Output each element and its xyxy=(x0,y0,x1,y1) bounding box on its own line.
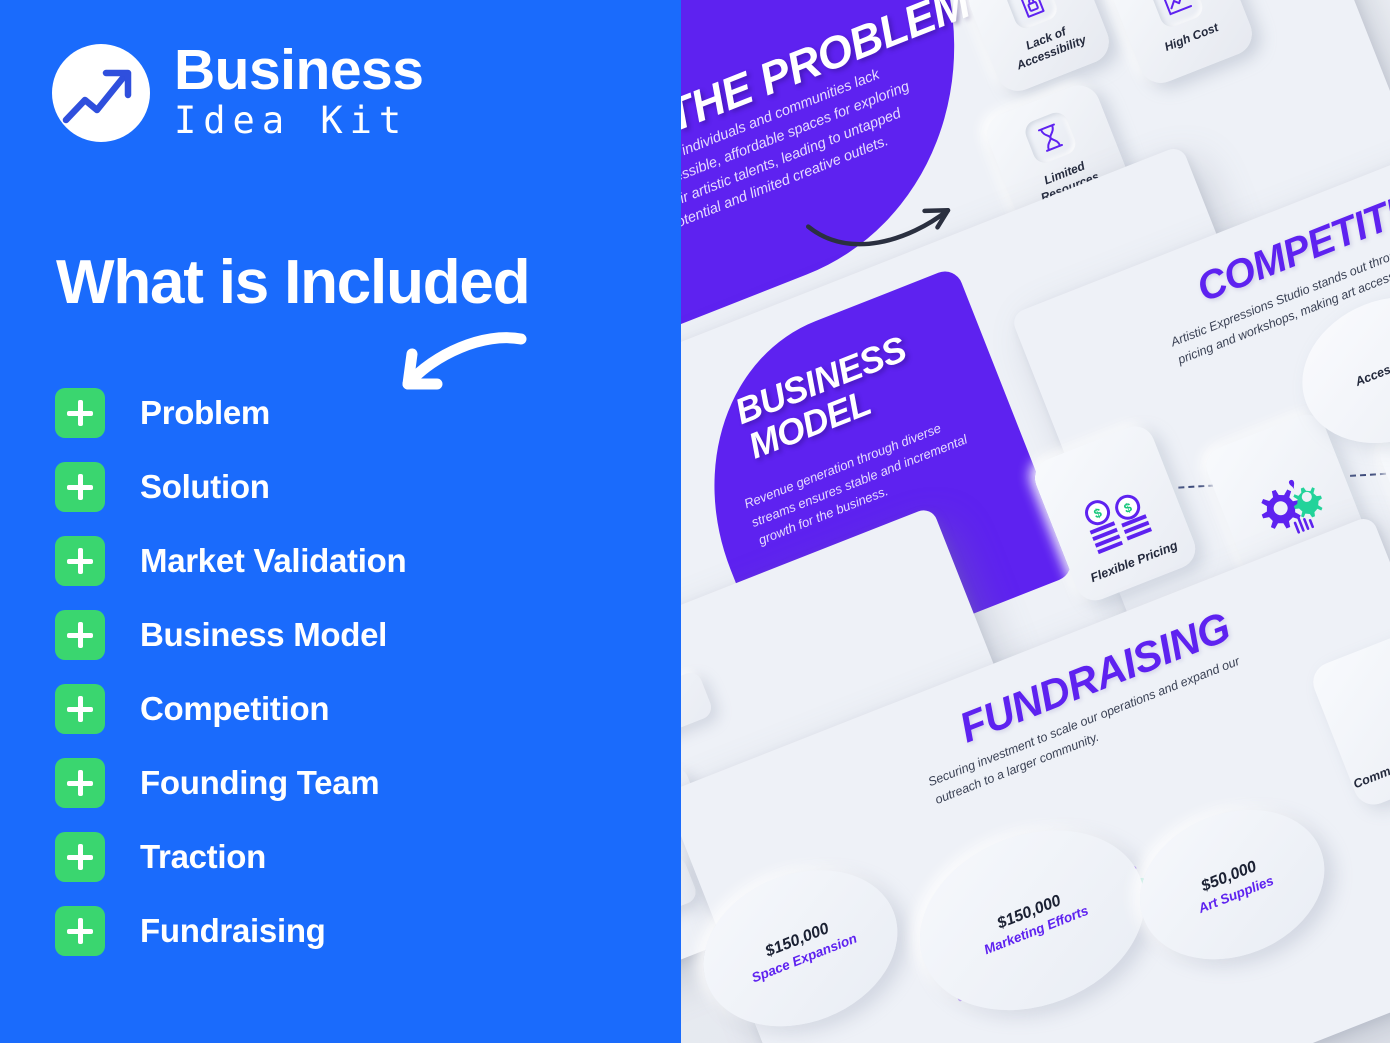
brand-title: Business xyxy=(174,43,423,97)
accessible-spaces-label: Accessible Spaces xyxy=(1316,335,1390,405)
plus-icon xyxy=(55,906,105,956)
slides-preview-canvas: THE PROBLEM Many individuals and communi… xyxy=(640,0,1390,1043)
plus-icon xyxy=(55,462,105,512)
plus-icon xyxy=(55,536,105,586)
feature-label: Market Validation xyxy=(140,542,406,580)
feature-label: Fundraising xyxy=(140,912,326,950)
brand-logo: Business Idea Kit xyxy=(52,43,423,143)
brand-subtitle: Idea Kit xyxy=(174,99,423,143)
list-item[interactable]: Problem xyxy=(55,388,615,438)
growth-chart-circle-icon xyxy=(52,44,150,142)
feature-label: Founding Team xyxy=(140,764,379,802)
plus-icon xyxy=(55,388,105,438)
plus-icon xyxy=(55,684,105,734)
list-item[interactable]: Founding Team xyxy=(55,758,615,808)
problem-card-high-cost[interactable]: High Cost xyxy=(1105,0,1258,89)
left-info-panel: Business Idea Kit What is Included Probl… xyxy=(0,0,681,1043)
brand-wordmark: Business Idea Kit xyxy=(174,43,423,143)
list-item[interactable]: Business Model xyxy=(55,610,615,660)
list-item[interactable]: Traction xyxy=(55,832,615,882)
feature-label: Competition xyxy=(140,690,329,728)
plus-icon xyxy=(55,758,105,808)
list-item[interactable]: Competition xyxy=(55,684,615,734)
list-item[interactable]: Fundraising xyxy=(55,906,615,956)
problem-card-accessibility[interactable]: Lack of Accessibility xyxy=(962,0,1115,97)
line-chart-icon xyxy=(1149,0,1206,30)
included-features-list: Problem Solution Market Validation Busin… xyxy=(55,388,615,980)
page-title: What is Included xyxy=(56,247,529,318)
list-item[interactable]: Solution xyxy=(55,462,615,512)
plus-icon xyxy=(55,832,105,882)
feature-label: Traction xyxy=(140,838,266,876)
list-item[interactable]: Market Validation xyxy=(55,536,615,586)
feature-label: Solution xyxy=(140,468,270,506)
competition-connector-2 xyxy=(1350,472,1390,477)
problem-card-label: Lack of Accessibility xyxy=(995,13,1102,78)
community-integration-label: Community Integration xyxy=(1352,728,1390,793)
locked-document-icon xyxy=(1003,0,1060,32)
feature-label: Business Model xyxy=(140,616,387,654)
feature-label: Problem xyxy=(140,394,270,432)
hourglass-icon xyxy=(1022,109,1079,166)
plus-icon xyxy=(55,610,105,660)
